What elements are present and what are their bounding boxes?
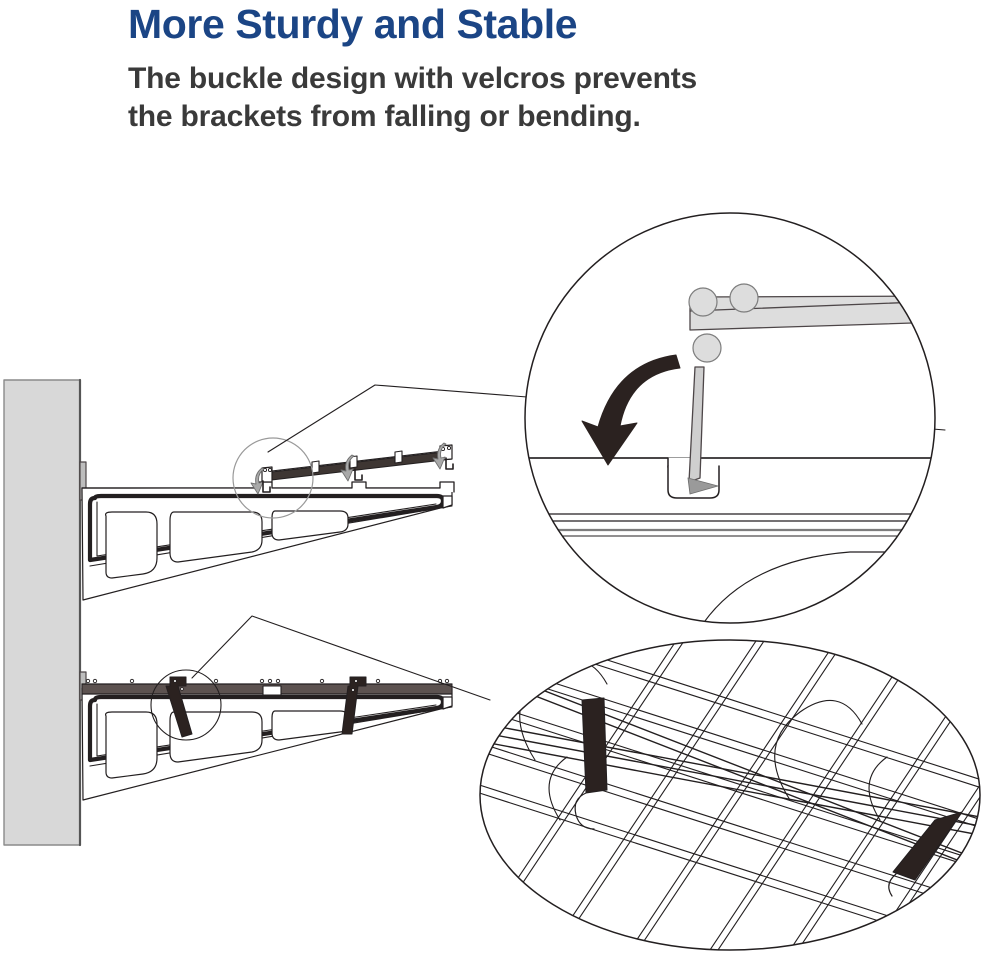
lower-buckle-rail [82, 679, 452, 695]
upper-shelf-bracket [80, 462, 454, 600]
buckle-detail-zoom [520, 210, 945, 630]
insertion-arrow-icon [251, 443, 446, 494]
infographic-page: More Sturdy and Stable The buckle design… [0, 0, 999, 958]
upper-buckle-rail [262, 445, 452, 482]
velcro-mesh-detail-zoom [420, 600, 999, 958]
wall-panel [4, 380, 80, 845]
product-illustration [0, 0, 999, 958]
